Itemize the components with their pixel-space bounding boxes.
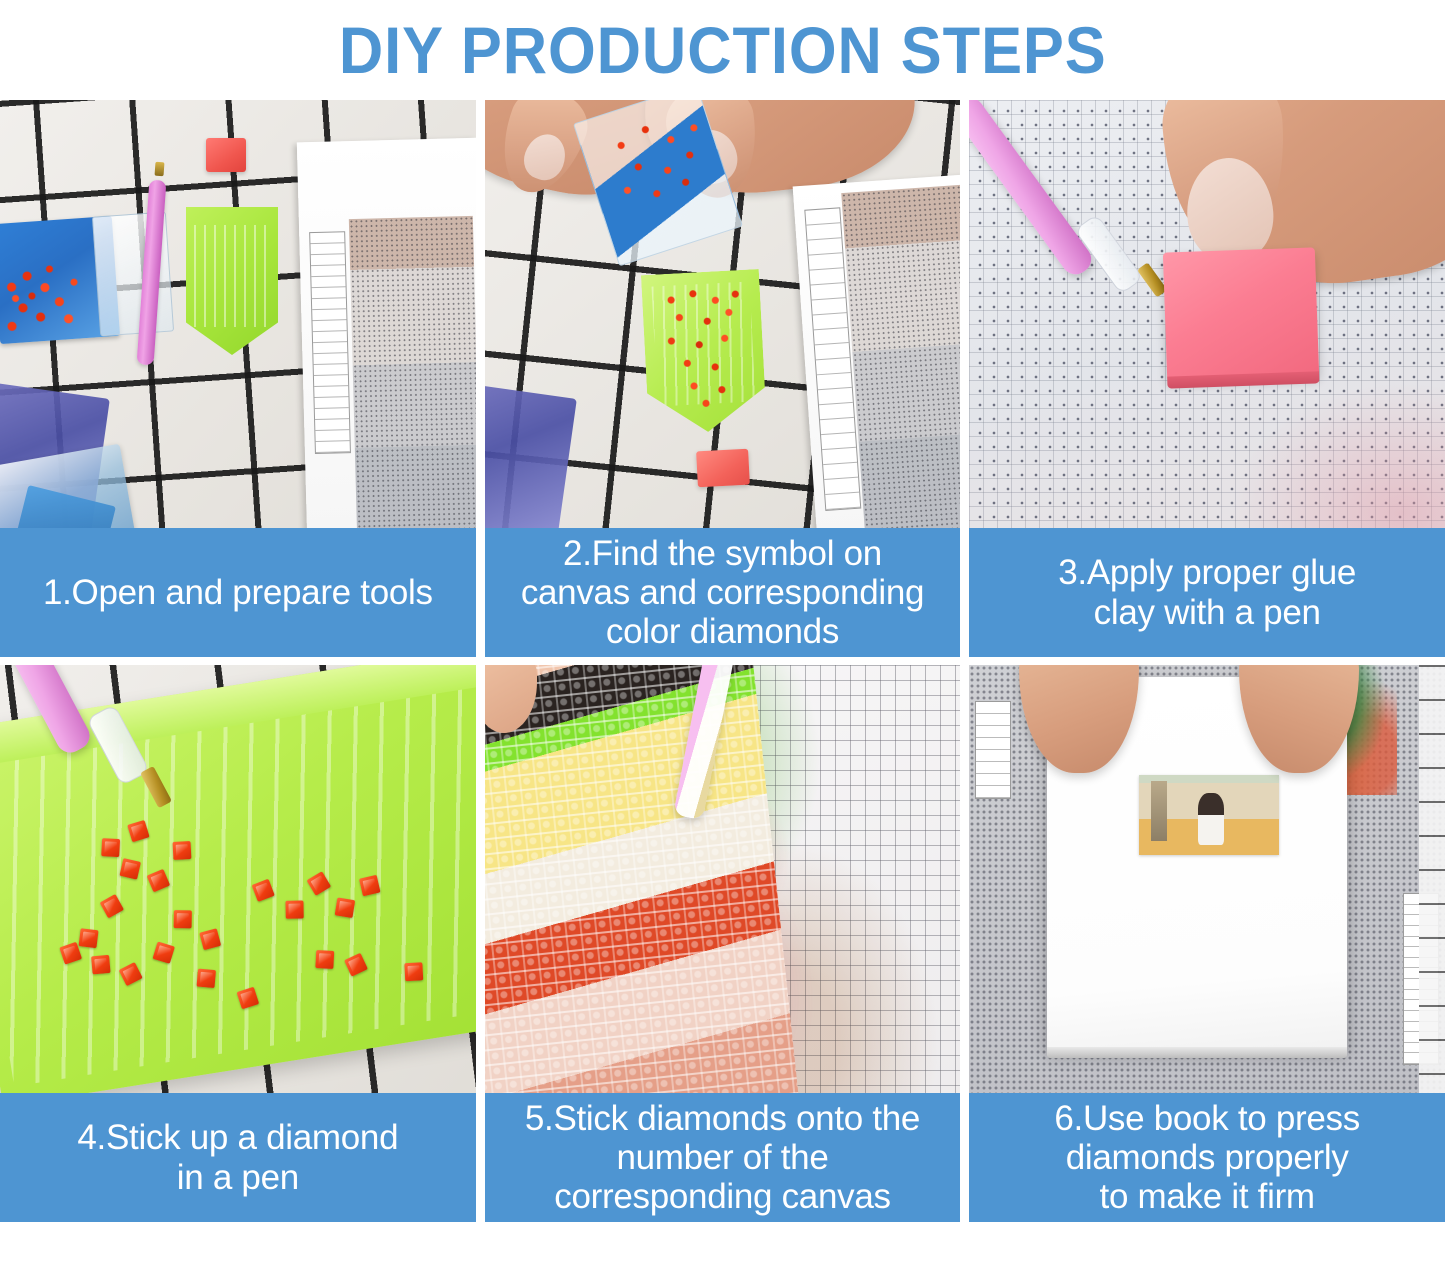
symbol-legend-table xyxy=(309,231,351,454)
diamond-bead xyxy=(404,962,423,981)
step-card-3: 3.Apply proper glue clay with a pen xyxy=(969,100,1445,657)
step-4-photo-pick-up-diamond xyxy=(0,665,476,1093)
canvas-preview-thumbnail xyxy=(348,216,475,528)
canvas-color-tint xyxy=(1231,382,1445,528)
diamond-bead xyxy=(119,858,141,880)
step-6-caption-line-2: diamonds properly xyxy=(1054,1138,1360,1177)
completed-diamond-area xyxy=(485,665,799,1093)
pen-tip-icon xyxy=(155,162,165,177)
steps-grid: 1.Open and prepare tools xyxy=(0,100,1445,1222)
step-card-1: 1.Open and prepare tools xyxy=(0,100,476,657)
step-1-photo-tools-laid-out xyxy=(0,100,476,528)
step-4-caption-line-1: 4.Stick up a diamond xyxy=(77,1118,398,1157)
step-6-photo-press-with-book xyxy=(969,665,1445,1093)
canvas-chart-sheet xyxy=(793,174,960,528)
step-2-caption-line-3: color diamonds xyxy=(521,612,924,651)
step-2-photo-pour-diamonds xyxy=(485,100,961,528)
symbol-legend-table-left xyxy=(975,701,1011,799)
diamond-bead xyxy=(101,838,120,857)
diamond-bead xyxy=(91,955,111,975)
diamond-bead xyxy=(344,953,368,977)
step-2-caption-line-1: 2.Find the symbol on xyxy=(521,534,924,573)
step-card-2: 2.Find the symbol on canvas and correspo… xyxy=(485,100,961,657)
diamond-bead xyxy=(315,950,334,969)
step-5-caption-line-1: 5.Stick diamonds onto the xyxy=(525,1099,920,1138)
canvas-ruler-edge xyxy=(1419,665,1445,1093)
diamond-bead xyxy=(252,879,275,902)
step-4-caption: 4.Stick up a diamond in a pen xyxy=(0,1093,476,1222)
diamond-bead xyxy=(147,869,171,893)
diamond-bead xyxy=(237,987,260,1010)
book-cover-photo xyxy=(1139,775,1279,855)
red-diamond-beads xyxy=(0,255,98,342)
step-5-photo-place-diamonds xyxy=(485,665,961,1093)
diamond-bead xyxy=(100,894,124,918)
canvas-preview-thumbnail xyxy=(842,185,961,528)
diamond-bead xyxy=(173,841,192,860)
diamonds-in-tray xyxy=(657,286,756,419)
step-6-caption-line-3: to make it firm xyxy=(1054,1177,1360,1216)
step-5-caption-line-3: corresponding canvas xyxy=(525,1177,920,1216)
step-1-caption: 1.Open and prepare tools xyxy=(0,528,476,657)
step-2-caption-line-2: canvas and corresponding xyxy=(521,573,924,612)
diamond-bead xyxy=(197,969,217,989)
diamond-bead xyxy=(152,941,174,963)
red-glue-clay-icon xyxy=(206,138,246,172)
diamond-bead xyxy=(306,871,331,896)
step-card-6: 6.Use book to press diamonds properly to… xyxy=(969,665,1445,1222)
step-6-caption-line-1: 6.Use book to press xyxy=(1054,1099,1360,1138)
step-4-caption-line-2: in a pen xyxy=(77,1158,398,1197)
step-2-caption: 2.Find the symbol on canvas and correspo… xyxy=(485,528,961,657)
step-3-caption: 3.Apply proper glue clay with a pen xyxy=(969,528,1445,657)
step-3-caption-line-1: 3.Apply proper glue xyxy=(1058,553,1356,592)
red-glue-clay-icon xyxy=(696,449,750,488)
step-card-4: 4.Stick up a diamond in a pen xyxy=(0,665,476,1222)
step-6-caption: 6.Use book to press diamonds properly to… xyxy=(969,1093,1445,1222)
step-3-caption-line-2: clay with a pen xyxy=(1058,593,1356,632)
diamond-bead xyxy=(335,897,356,918)
diamond-bead xyxy=(174,910,192,928)
pink-glue-clay-icon xyxy=(1163,247,1319,380)
diamond-bead xyxy=(199,928,221,950)
canvas-chart-sheet xyxy=(296,138,475,528)
diamond-bead xyxy=(285,900,303,918)
diamond-bead xyxy=(359,875,381,897)
diamond-bead xyxy=(79,928,99,948)
title-bar: DIY PRODUCTION STEPS xyxy=(0,0,1445,100)
step-3-photo-apply-glue-clay xyxy=(969,100,1445,528)
step-5-caption: 5.Stick diamonds onto the number of the … xyxy=(485,1093,961,1222)
diamond-bead xyxy=(119,962,143,986)
book-page-edge xyxy=(1047,1047,1347,1058)
page-title: DIY PRODUCTION STEPS xyxy=(339,17,1107,83)
step-1-caption-line-1: 1.Open and prepare tools xyxy=(43,573,433,612)
step-card-5: 5.Stick diamonds onto the number of the … xyxy=(485,665,961,1222)
step-5-caption-line-2: number of the xyxy=(525,1138,920,1177)
